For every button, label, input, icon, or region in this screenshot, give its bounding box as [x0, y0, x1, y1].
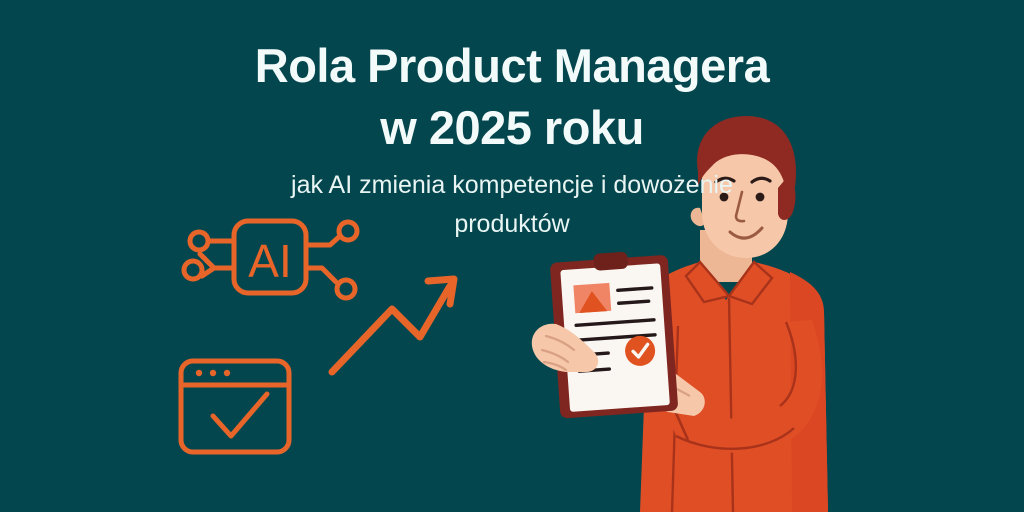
browser-dots [196, 370, 230, 376]
poster-canvas: AI [0, 0, 1024, 512]
svg-text:AI: AI [248, 235, 291, 287]
ai-chip-label: AI [248, 235, 291, 287]
growth-arrow-icon [332, 279, 454, 372]
illustration-layer: AI [0, 0, 1024, 512]
